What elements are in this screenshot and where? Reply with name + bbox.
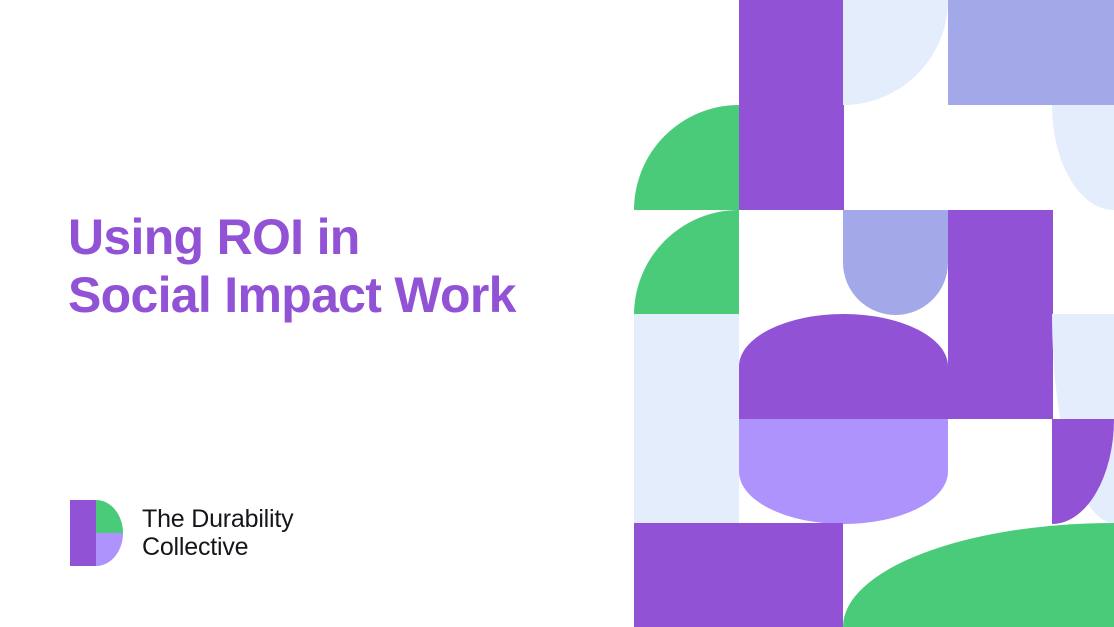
purple-rect-col2-top bbox=[739, 0, 844, 210]
purple-rect-bottom-left bbox=[634, 523, 843, 627]
pale-blue-quarter-top bbox=[843, 0, 948, 105]
purple-rect-col4-mid bbox=[948, 210, 1053, 419]
logo-quarter-lavender-icon bbox=[96, 533, 123, 566]
title-block: Using ROI in Social Impact Work bbox=[68, 208, 628, 324]
periwinkle-rect-top-right bbox=[948, 0, 1114, 105]
green-rounded-bottom-right bbox=[843, 523, 1114, 627]
green-quarter-row3-col1 bbox=[634, 210, 739, 315]
pale-blue-square-row4-col1 bbox=[634, 314, 739, 523]
green-quarter-row2-col1 bbox=[634, 105, 739, 210]
logo-wordmark: The Durability Collective bbox=[142, 505, 293, 561]
logo-lockup: The Durability Collective bbox=[70, 500, 293, 566]
pale-blue-quarter-row2-right bbox=[1052, 105, 1114, 210]
circle-bottom-half-lavender bbox=[739, 419, 948, 524]
logo-quarter-green-icon bbox=[96, 500, 123, 533]
logo-bar-shape bbox=[70, 500, 96, 566]
page-title: Using ROI in Social Impact Work bbox=[68, 208, 628, 324]
slide-canvas: Using ROI in Social Impact Work The Dura… bbox=[0, 0, 1114, 627]
durability-collective-logo-icon bbox=[70, 500, 123, 566]
circle-top-half-purple bbox=[739, 314, 948, 419]
decorative-geometric-pattern bbox=[634, 0, 1114, 627]
periwinkle-half-circle bbox=[843, 210, 948, 315]
